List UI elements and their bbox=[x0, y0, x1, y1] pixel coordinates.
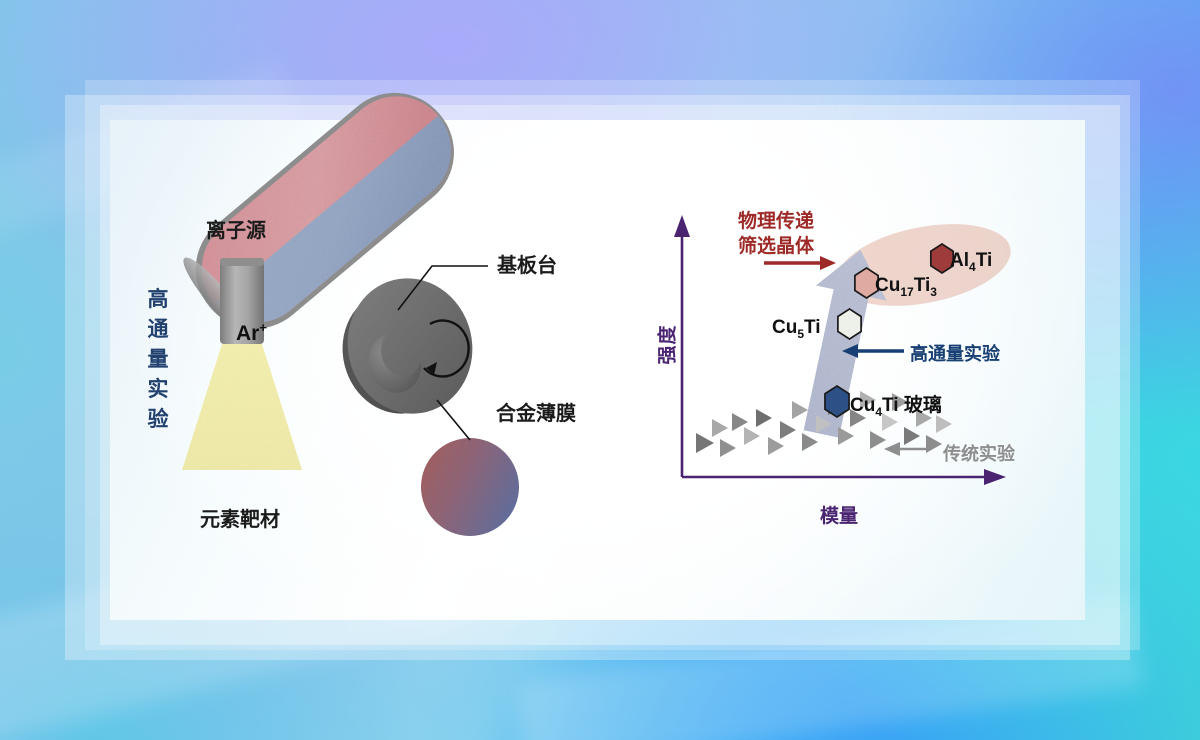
axis-label-y: 强度 bbox=[653, 324, 680, 364]
species-label-cu17ti3: Cu17Ti3 bbox=[875, 275, 937, 299]
annotation-traditional: 传统实验 bbox=[943, 440, 1015, 466]
annotation-line-2: 筛选晶体 bbox=[738, 234, 814, 259]
label-element-target: 元素靶材 bbox=[200, 503, 280, 532]
annotation-arrow-gray bbox=[884, 442, 930, 456]
label-substrate-stage: 基板台 bbox=[497, 249, 557, 278]
species-label-cu4ti: Cu4Ti 玻璃 bbox=[850, 390, 942, 419]
ion-species-symbol: Ar bbox=[236, 322, 259, 345]
property-map-chart: 强度 模量 物理传递 筛选晶体 高通量实验 传统实验 Al4Ti Cu17Ti3… bbox=[660, 205, 1030, 525]
substrate-stage-disk bbox=[330, 265, 487, 427]
species-suffix-glass: 玻璃 bbox=[904, 395, 942, 416]
label-ion-source: 离子源 bbox=[206, 214, 266, 243]
annotation-line-1: 物理传递 bbox=[738, 209, 814, 234]
alloy-film-circle bbox=[421, 438, 519, 536]
species-label-al4ti: Al4Ti bbox=[950, 250, 992, 274]
species-label-cu5ti: Cu5Ti bbox=[772, 317, 821, 341]
axis-label-x: 模量 bbox=[820, 501, 858, 528]
annotation-high-throughput: 高通量实验 bbox=[910, 340, 1000, 366]
ion-species-charge: + bbox=[259, 320, 267, 335]
ion-beam-cone bbox=[182, 344, 302, 470]
label-ion-species: Ar+ bbox=[236, 320, 267, 346]
label-alloy-film: 合金薄膜 bbox=[496, 397, 576, 426]
marker-hexagon-cu4ti bbox=[822, 385, 852, 418]
figure-canvas: 高 通 量 实 验 bbox=[0, 0, 1200, 740]
annotation-physical-transfer: 物理传递 筛选晶体 bbox=[738, 209, 814, 259]
marker-hexagon-cu5ti bbox=[835, 308, 864, 340]
